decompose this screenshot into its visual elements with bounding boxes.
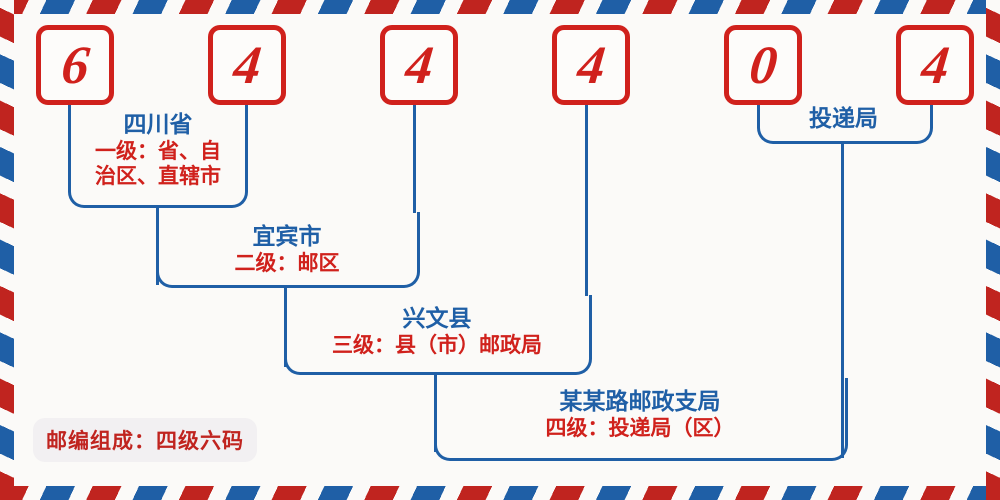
postcode-digit-3[interactable]: 4 [380,25,458,105]
group-level-province-line2: 治区、直辖市 [68,165,248,189]
postcode-digit-5-value: 0 [747,38,780,92]
postcode-digit-6[interactable]: 4 [896,25,974,105]
group-title-province: 四川省 [68,112,248,138]
group-title-delivery-label: 投递局 [757,106,930,132]
airmail-border-left [0,0,14,500]
group-level-county: 三级：县（市）邮政局 [284,334,590,358]
group-label-delivery-label: 投递局 [757,106,930,132]
group-title-postal-district: 宜宾市 [156,224,418,250]
legend-pill: 邮编组成：四级六码 [33,418,257,462]
group-title-delivery-office: 某某路邮政支局 [434,389,846,415]
group-label-county: 兴文县 三级：县（市）邮政局 [284,306,590,357]
postcode-digit-4[interactable]: 4 [552,25,630,105]
group-level-delivery-office: 四级：投递局（区） [434,417,846,441]
postcode-digit-3-value: 4 [403,38,436,92]
group-level-province-line1: 一级：省、自 [68,140,248,164]
group-label-postal-district: 宜宾市 二级：邮区 [156,224,418,275]
envelope-diagram: 6 4 4 4 0 4 四川省 一级：省、自 治区、直辖市 投递局 宜宾市 二级… [0,0,1000,500]
group-level-postal-district: 二级：邮区 [156,252,418,276]
airmail-border-top [0,0,1000,14]
postcode-digit-2-value: 4 [231,38,264,92]
airmail-border-right [986,0,1000,500]
postcode-digit-2[interactable]: 4 [208,25,286,105]
legend-text: 邮编组成：四级六码 [46,425,244,455]
postcode-digit-4-value: 4 [575,38,608,92]
digit4-drop-line [585,95,588,296]
airmail-border-bottom [0,486,1000,500]
group-title-county: 兴文县 [284,306,590,332]
group-label-delivery-office: 某某路邮政支局 四级：投递局（区） [434,389,846,440]
postcode-digit-6-value: 4 [919,38,952,92]
postcode-digit-1-value: 6 [59,38,92,92]
postcode-digit-1[interactable]: 6 [36,25,114,105]
digit3-drop-line [413,95,416,213]
postcode-digit-5[interactable]: 0 [724,25,802,105]
group-label-province: 四川省 一级：省、自 治区、直辖市 [68,112,248,189]
